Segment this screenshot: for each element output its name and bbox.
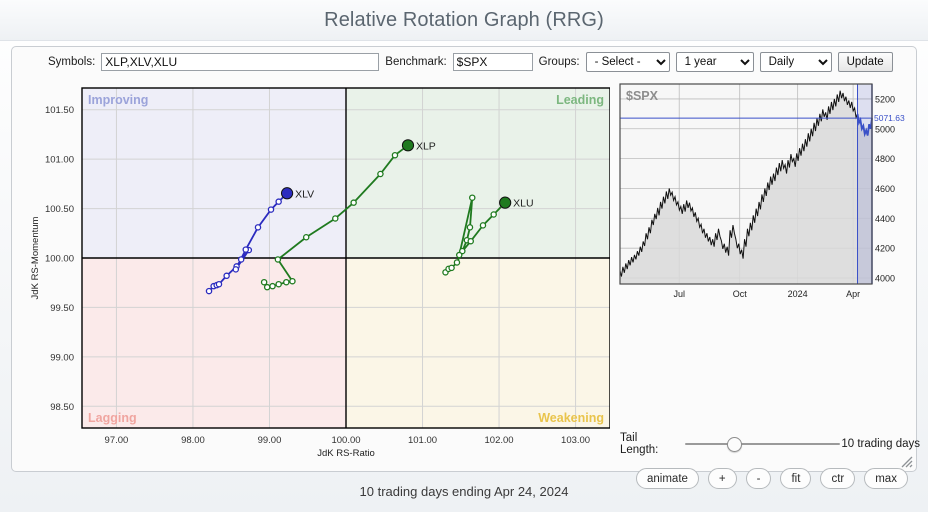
trail-point [206,289,211,294]
trail-point [255,225,260,230]
trail-point [480,223,485,228]
frequency-select[interactable]: Daily [760,52,832,72]
y-tick-label: 101.50 [45,105,74,116]
trail-point [449,265,454,270]
spx-x-tick-label: Jul [673,289,685,299]
tail-length-value: 10 trading days [841,438,920,450]
resize-grip-icon[interactable] [899,454,913,468]
groups-label: Groups: [539,56,580,68]
trail-point [216,282,221,287]
tail-length-slider[interactable] [685,437,834,451]
trail-point [276,282,281,287]
symbols-label: Symbols: [48,56,95,68]
trail-point [275,257,280,262]
spx-y-tick-label: 5200 [875,94,895,104]
y-tick-label: 98.50 [50,402,74,413]
series-label: XLV [295,188,314,200]
spx-highlight-band [858,84,872,284]
trail-point [262,280,267,285]
y-tick-label: 101.00 [45,155,74,166]
series-end-marker[interactable] [281,188,292,199]
y-tick-label: 99.50 [50,303,74,314]
slider-thumb[interactable] [727,437,742,452]
rrg-chart[interactable]: ImprovingLeadingLaggingWeakening97.0098.… [24,80,610,460]
y-tick-label: 100.50 [45,204,74,215]
trail-point [392,153,397,158]
series-end-marker[interactable] [500,197,511,208]
groups-select[interactable]: - Select - [586,52,670,72]
quadrant-improving [82,88,346,258]
benchmark-label: Benchmark: [385,56,446,68]
rrg-chart-svg[interactable]: ImprovingLeadingLaggingWeakening97.0098.… [24,80,610,460]
trail-point [243,247,248,252]
quadrant-label-weakening: Weakening [538,411,604,425]
window-titlebar: Relative Rotation Graph (RRG) [0,0,928,41]
x-tick-label: 103.00 [561,435,590,446]
slider-track [685,443,840,445]
trail-point [290,279,295,284]
page-title: Relative Rotation Graph (RRG) [324,9,604,32]
trail-point [378,171,383,176]
spx-chart-title: $SPX [626,89,659,103]
series-end-marker[interactable] [402,140,413,151]
spx-y-tick-label: 4000 [875,274,895,284]
trail-point [468,239,473,244]
x-tick-label: 102.00 [485,435,514,446]
trail-point [239,257,244,262]
quadrant-weakening [346,258,610,428]
x-tick-label: 100.00 [331,435,360,446]
trail-point [467,225,472,230]
trail-point [224,273,229,278]
trail-point [491,212,496,217]
quadrant-label-lagging: Lagging [88,411,137,425]
spx-current-value-label: 5071.63 [874,113,905,123]
series-label: XLU [513,198,533,210]
trail-point [470,195,475,200]
trail-point [457,252,462,257]
trail-point [351,200,356,205]
spx-y-tick-label: 5000 [875,124,895,134]
x-tick-label: 99.00 [258,435,282,446]
x-axis-label: JdK RS-Ratio [317,448,375,459]
period-select[interactable]: 1 year [676,52,754,72]
spx-y-tick-label: 4600 [875,184,895,194]
trail-point [270,284,275,289]
trail-point [265,285,270,290]
rrg-application: Relative Rotation Graph (RRG) Symbols: B… [0,0,928,512]
x-tick-label: 97.00 [105,435,129,446]
tail-length-label: Tail Length: [620,432,677,456]
spx-y-tick-label: 4400 [875,214,895,224]
spx-chart-svg[interactable]: 5071.634000420044004600480050005200JulOc… [616,80,906,300]
spx-y-tick-label: 4200 [875,244,895,254]
chart-footer-caption: 10 trading days ending Apr 24, 2024 [0,484,928,499]
toolbar: Symbols: Benchmark: Groups: - Select - 1… [12,47,916,77]
spx-x-tick-label: Oct [733,289,748,299]
trail-point [284,280,289,285]
trail-point [276,199,281,204]
quadrant-label-improving: Improving [88,93,148,107]
y-tick-label: 99.00 [50,352,74,363]
quadrant-label-leading: Leading [556,93,604,107]
trail-point [233,267,238,272]
x-tick-label: 101.00 [408,435,437,446]
update-button[interactable]: Update [838,52,893,72]
trail-point [333,216,338,221]
spx-x-tick-label: Apr [846,289,860,299]
trail-point [304,235,309,240]
y-tick-label: 100.00 [45,254,74,265]
trail-point [454,260,459,265]
y-axis-label: JdK RS-Momentum [30,216,41,299]
tail-length-control: Tail Length: 10 trading days [620,435,920,453]
spx-x-tick-label: 2024 [788,289,808,299]
rrg-panel: Symbols: Benchmark: Groups: - Select - 1… [11,46,917,472]
benchmark-input[interactable] [453,53,533,71]
x-tick-label: 98.00 [181,435,205,446]
spx-y-tick-label: 4800 [875,154,895,164]
series-label: XLP [416,140,436,152]
spx-chart[interactable]: 5071.634000420044004600480050005200JulOc… [616,80,906,300]
symbols-input[interactable] [101,53,379,71]
trail-point [268,207,273,212]
